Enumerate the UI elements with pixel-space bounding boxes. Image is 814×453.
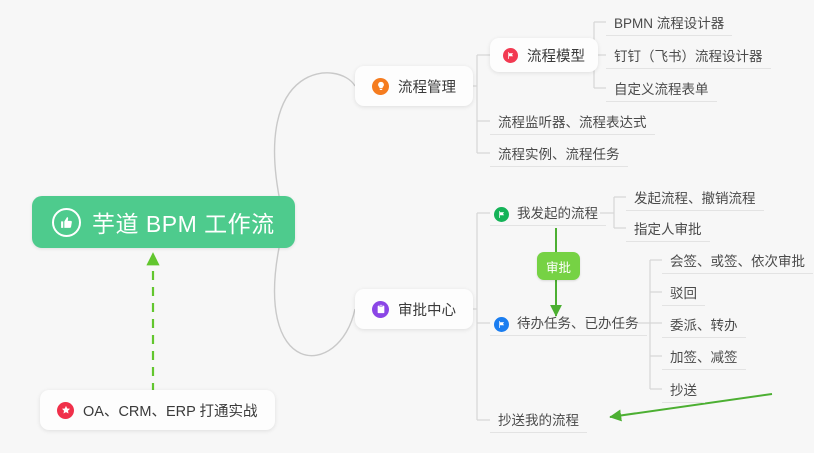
leaf-label: 委派、转办	[670, 314, 738, 334]
thumbs-up-icon	[52, 208, 81, 237]
leaf-cc[interactable]: 抄送	[662, 376, 705, 403]
leaf-label: 钉钉（飞书）流程设计器	[614, 45, 763, 65]
leaf-label: 加签、减签	[670, 346, 738, 366]
node-label: 待办任务、已办任务	[517, 312, 639, 332]
root-node[interactable]: 芋道 BPM 工作流	[32, 196, 295, 248]
clipboard-icon	[372, 301, 389, 318]
leaf-delegate-transfer[interactable]: 委派、转办	[662, 311, 746, 338]
leaf-label: 会签、或签、依次审批	[670, 250, 805, 270]
leaf-start-cancel-process[interactable]: 发起流程、撤销流程	[626, 184, 764, 211]
branch-label: 流程管理	[398, 76, 456, 97]
leaf-dingtalk-feishu-designer[interactable]: 钉钉（飞书）流程设计器	[606, 42, 771, 69]
footnote-integration-note[interactable]: OA、CRM、ERP 打通实战	[40, 390, 275, 430]
flag-icon	[494, 207, 509, 222]
leaf-label: BPMN 流程设计器	[614, 12, 724, 32]
leaf-label: 驳回	[670, 282, 697, 302]
node-process-model[interactable]: 流程模型	[490, 38, 598, 72]
leaf-countersign[interactable]: 会签、或签、依次审批	[662, 247, 813, 274]
badge-label: 审批	[546, 257, 571, 276]
branch-approval-center[interactable]: 审批中心	[355, 289, 473, 329]
leaf-label: 流程实例、流程任务	[498, 143, 620, 163]
leaf-add-remove-sign[interactable]: 加签、减签	[662, 343, 746, 370]
footnote-label: OA、CRM、ERP 打通实战	[83, 400, 258, 421]
leaf-listener-expression[interactable]: 流程监听器、流程表达式	[490, 108, 655, 135]
leaf-cc-to-me-process[interactable]: 抄送我的流程	[490, 406, 587, 433]
leaf-custom-form[interactable]: 自定义流程表单	[606, 75, 717, 102]
leaf-instance-task[interactable]: 流程实例、流程任务	[490, 140, 628, 167]
leaf-label: 抄送	[670, 379, 697, 399]
branch-process-management[interactable]: 流程管理	[355, 66, 473, 106]
node-todo-done-task[interactable]: 待办任务、已办任务	[490, 309, 647, 336]
leaf-label: 抄送我的流程	[498, 409, 579, 429]
leaf-assigned-approver[interactable]: 指定人审批	[626, 215, 710, 242]
leaf-label: 流程监听器、流程表达式	[498, 111, 647, 131]
leaf-label: 发起流程、撤销流程	[634, 187, 756, 207]
mindmap-canvas: 芋道 BPM 工作流 流程管理 流程模型 BPMN 流程设计器 钉钉（飞书）流程…	[0, 0, 814, 453]
node-label: 我发起的流程	[517, 202, 598, 222]
root-label: 芋道 BPM 工作流	[92, 205, 275, 239]
lightbulb-icon	[372, 78, 389, 95]
leaf-bpmn-designer[interactable]: BPMN 流程设计器	[606, 9, 732, 36]
leaf-label: 自定义流程表单	[614, 78, 709, 98]
approval-badge: 审批	[537, 252, 580, 280]
leaf-label: 指定人审批	[634, 218, 702, 238]
flag-icon	[503, 48, 518, 63]
leaf-reject[interactable]: 驳回	[662, 279, 705, 306]
star-icon	[57, 402, 74, 419]
node-label: 流程模型	[527, 45, 585, 66]
branch-label: 审批中心	[398, 299, 456, 320]
flag-icon	[494, 317, 509, 332]
node-my-started-process[interactable]: 我发起的流程	[490, 199, 606, 226]
